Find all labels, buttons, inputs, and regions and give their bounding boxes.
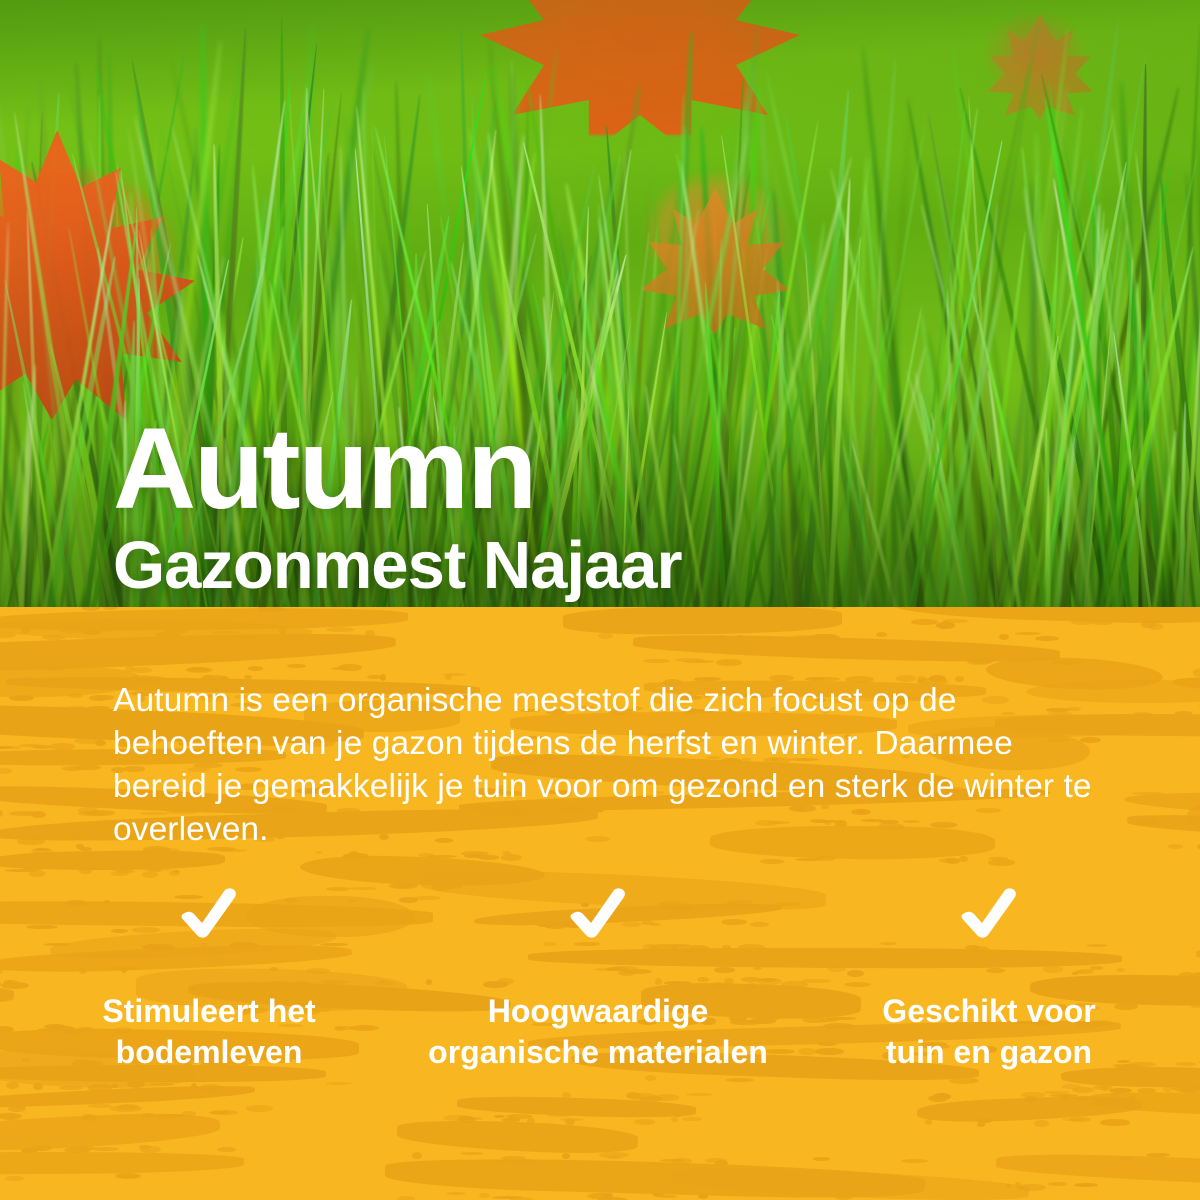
check-icon	[958, 887, 1020, 939]
feature-list: Stimuleert het bodemleven Hoogwaardige o…	[0, 887, 1200, 1073]
feature-label-2: Hoogwaardige organische materialen	[428, 991, 768, 1073]
page-subtitle: Gazonmest Najaar	[113, 532, 682, 599]
feature-item-2: Hoogwaardige organische materialen	[418, 887, 778, 1073]
feature-item-1: Stimuleert het bodemleven	[0, 887, 418, 1073]
product-poster: Autumn Gazonmest Najaar Autumn is een or…	[0, 0, 1200, 1200]
check-icon	[567, 887, 629, 939]
info-panel: Autumn is een organische meststof die zi…	[0, 607, 1200, 1200]
page-title: Autumn	[113, 415, 682, 524]
check-icon	[178, 887, 240, 939]
feature-label-3: Geschikt voor tuin en gazon	[882, 991, 1095, 1073]
hero-headings: Autumn Gazonmest Najaar	[113, 415, 682, 599]
body-paragraph: Autumn is een organische meststof die zi…	[113, 679, 1098, 851]
feature-label-1: Stimuleert het bodemleven	[102, 991, 315, 1073]
feature-item-3: Geschikt voor tuin en gazon	[778, 887, 1200, 1073]
